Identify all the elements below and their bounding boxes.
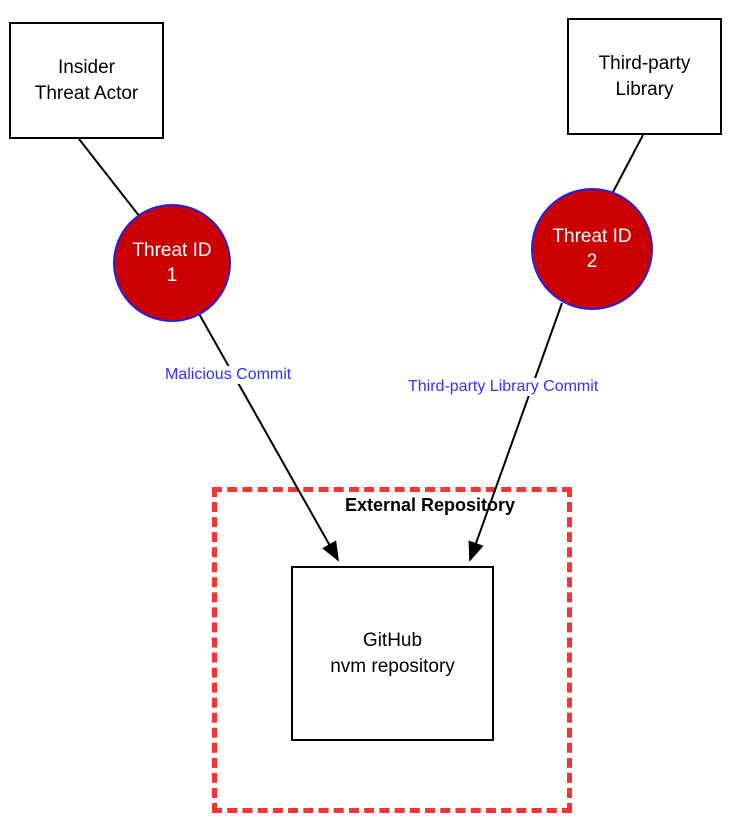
node-label-line: 2 (587, 251, 598, 272)
node-label-line: nvm repository (330, 656, 455, 677)
node-threat-id-2[interactable]: Threat ID 2 (531, 188, 653, 310)
threat-model-diagram: External Repository Insider Threat Actor… (0, 0, 733, 830)
node-third-party-library[interactable]: Third-party Library (567, 18, 722, 135)
node-label: Threat ID 1 (132, 238, 211, 288)
node-insider-threat-actor[interactable]: Insider Threat Actor (9, 22, 164, 139)
edge-threat1-to-repo (198, 312, 338, 560)
node-label-line: GitHub (363, 630, 422, 651)
node-label-line: 1 (167, 265, 178, 286)
edge-label-third-party-library-commit: Third-party Library Commit (406, 378, 600, 396)
node-label-line: Insider (58, 57, 115, 78)
edge-label-malicious-commit: Malicious Commit (163, 366, 293, 384)
node-github-nvm-repository[interactable]: GitHub nvm repository (291, 566, 494, 741)
node-threat-id-1[interactable]: Threat ID 1 (113, 204, 231, 322)
edge-actor-to-threat1 (79, 139, 140, 217)
node-label-line: Threat Actor (35, 83, 139, 104)
node-label: Threat ID 2 (552, 224, 631, 274)
node-label-line: Threat ID (552, 226, 631, 247)
node-label-line: Library (615, 79, 673, 100)
node-label-line: Threat ID (132, 240, 211, 261)
edge-threat2-to-repo (470, 303, 562, 560)
node-label: Insider Threat Actor (35, 55, 139, 105)
edge-library-to-threat2 (612, 135, 643, 194)
node-label-line: Third-party (599, 53, 691, 74)
node-label: Third-party Library (599, 51, 691, 101)
node-label: GitHub nvm repository (330, 628, 455, 678)
